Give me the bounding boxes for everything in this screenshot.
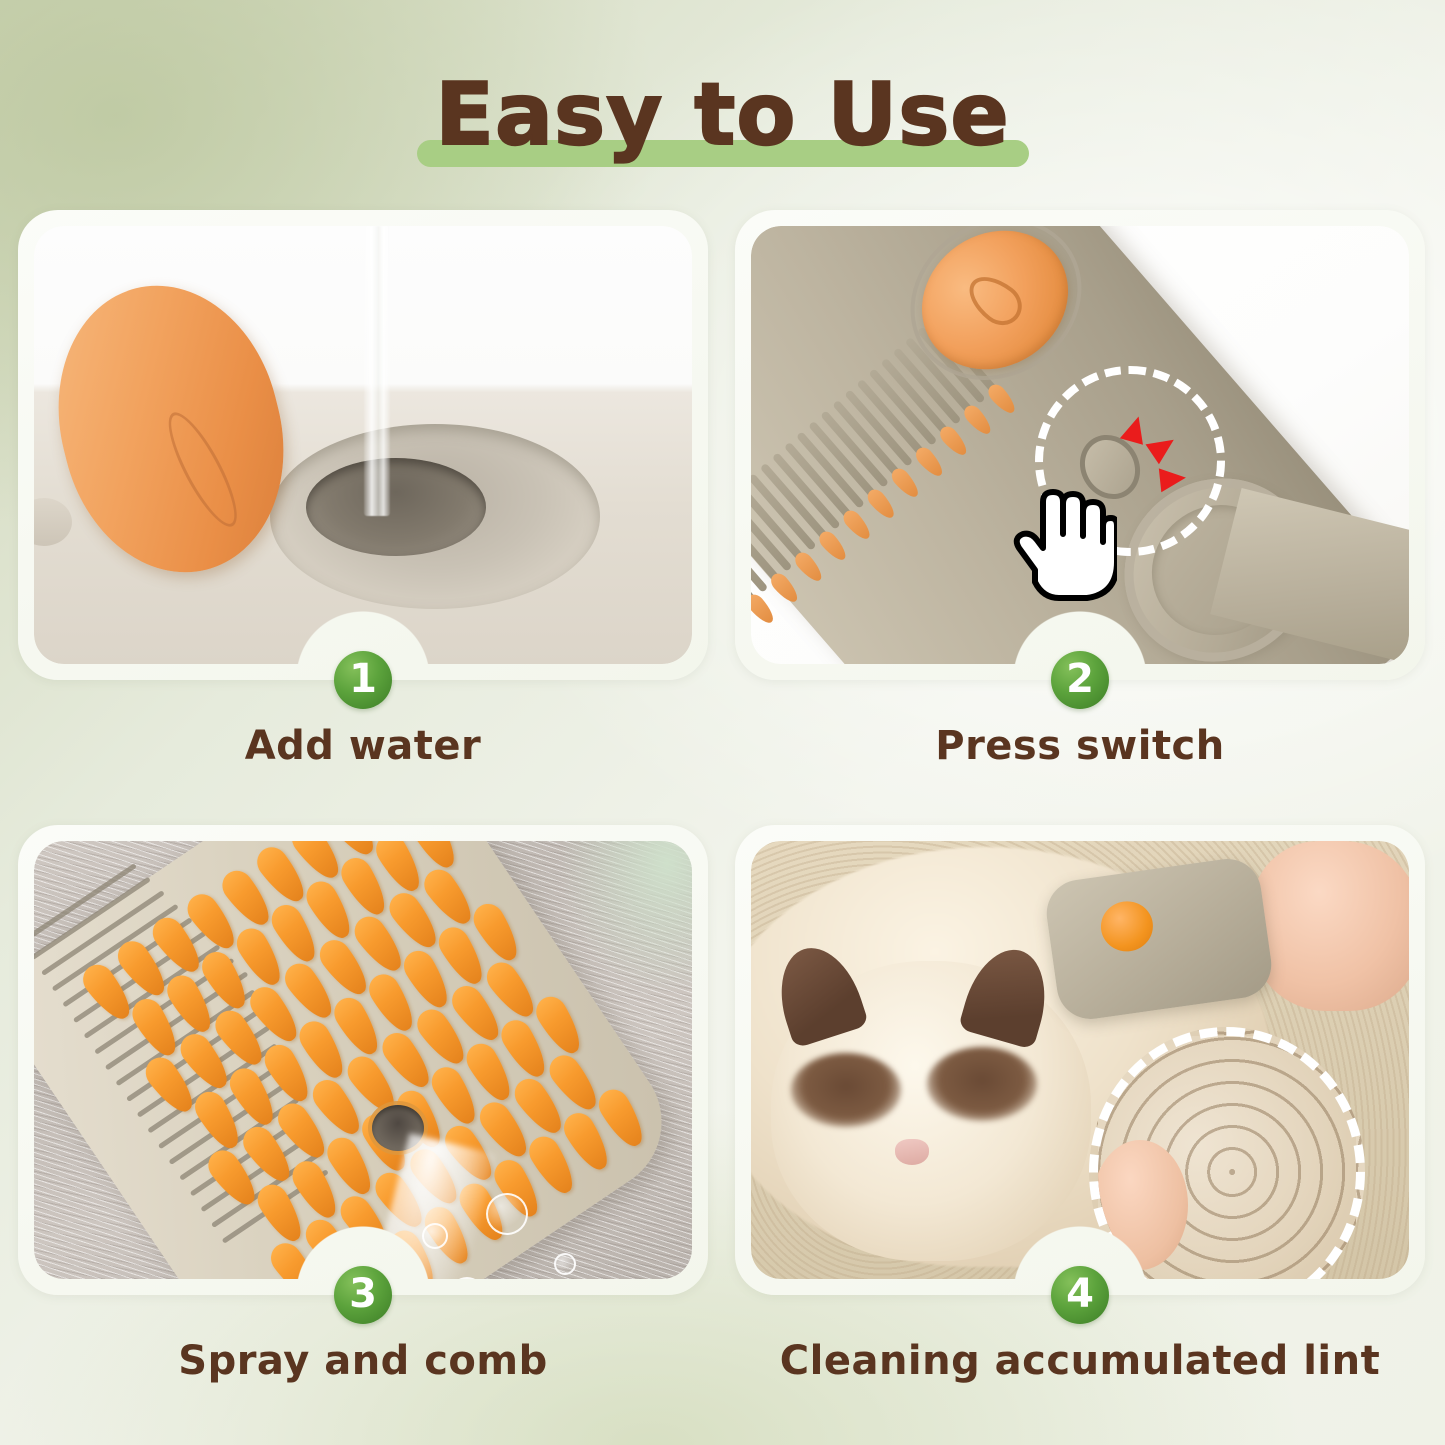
step-3-photo: [34, 841, 692, 1279]
comb-tooth-tip: [888, 465, 922, 501]
step-4-number: 4: [1066, 1274, 1094, 1314]
green-corner-glow: [562, 841, 692, 991]
press-switch-illustration: [751, 226, 1409, 664]
step-3-caption: Spray and comb: [18, 1338, 708, 1384]
step-1-badge: 1: [334, 651, 392, 709]
comb-tooth-tip: [912, 444, 946, 480]
water-stream: [364, 226, 390, 516]
step-4-badge: 4: [1051, 1266, 1109, 1324]
brush-device: [1042, 855, 1275, 1024]
step-1-photo: [34, 226, 692, 664]
fill-port-hole: [306, 458, 486, 556]
step-1-caption: Add water: [18, 723, 708, 769]
step-2-badge: 2: [1051, 651, 1109, 709]
step-3-number: 3: [349, 1274, 377, 1314]
step-card-1: 1 Add water: [18, 210, 708, 810]
bubble-1: [486, 1193, 528, 1235]
comb-tooth-tip: [816, 528, 850, 564]
water-drop-icon: [960, 266, 1030, 333]
step-1-number: 1: [349, 659, 377, 699]
spray-comb-illustration: [34, 841, 692, 1279]
steps-grid: 1 Add water: [0, 210, 1445, 1430]
comb-tooth-tip: [961, 402, 995, 438]
header: Easy to Use: [0, 55, 1445, 175]
hand-cursor-icon: [1007, 482, 1117, 606]
comb-tooth-tip: [985, 381, 1019, 417]
comb-tooth-tip: [767, 570, 801, 606]
cat-nose: [895, 1139, 929, 1165]
cap-groove: [157, 405, 249, 535]
brush-power-button: [1098, 898, 1156, 955]
cat-face-marking-right: [927, 1047, 1037, 1121]
step-card-3: 3 Spray and comb: [18, 825, 708, 1425]
comb-tooth-tip: [751, 591, 778, 627]
water-fill-illustration: [34, 226, 692, 664]
cat-face-marking-left: [791, 1053, 901, 1127]
step-2-caption: Press switch: [735, 723, 1425, 769]
human-hand: [1251, 841, 1409, 1011]
step-card-2: 2 Press switch: [735, 210, 1425, 810]
comb-tooth-tip: [792, 549, 826, 585]
step-4-photo: [751, 841, 1409, 1279]
step-2-photo: [751, 226, 1409, 664]
lint-cleaning-illustration: [751, 841, 1409, 1279]
alert-arrow-3: [1159, 466, 1187, 493]
step-card-4: 4 Cleaning accumulated lint: [735, 825, 1425, 1425]
step-2-number: 2: [1066, 659, 1094, 699]
bubble-2: [422, 1223, 448, 1249]
step-3-badge: 3: [334, 1266, 392, 1324]
page-title: Easy to Use: [435, 72, 1009, 158]
bubble-4: [554, 1253, 576, 1275]
step-4-caption: Cleaning accumulated lint: [735, 1338, 1425, 1384]
comb-tooth-tip: [864, 486, 898, 522]
comb-tooth-tip: [936, 423, 970, 459]
title-wrap: Easy to Use: [0, 55, 1445, 175]
inset-thumb: [1092, 1140, 1188, 1270]
comb-tooth-tip: [840, 507, 874, 543]
